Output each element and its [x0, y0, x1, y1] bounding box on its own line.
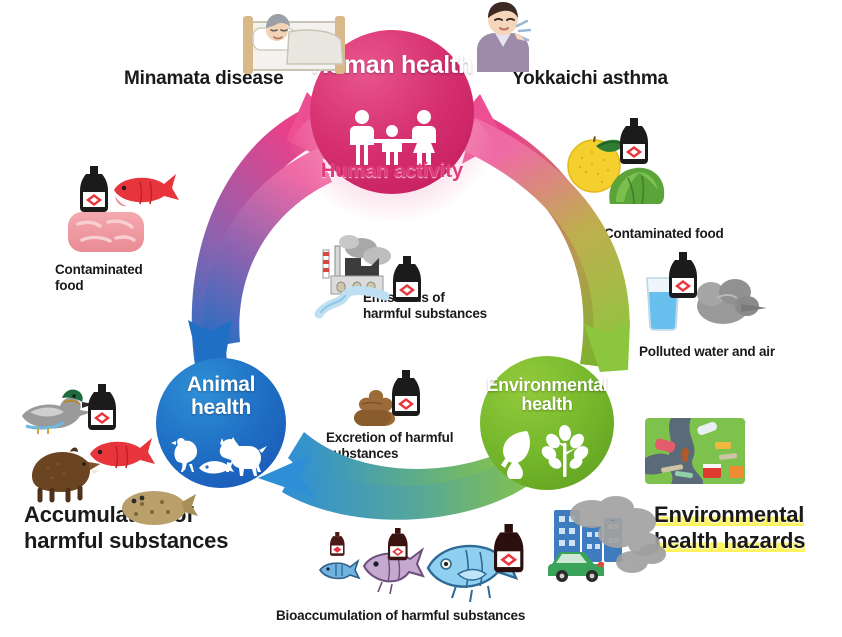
factory-emissions-icon: [319, 235, 421, 314]
diagram-canvas: Human health: [0, 0, 842, 637]
contaminated-meat-fish-icon: [68, 166, 179, 252]
sick-person-in-bed-icon: [243, 14, 345, 74]
wildlife-accumulation-icon: [22, 384, 198, 525]
water-glass-smoke-icon: [647, 252, 767, 330]
bioaccumulation-fish-chain-icon: [320, 524, 523, 602]
city-smog-car-icon: [548, 496, 666, 582]
excrement-icon: [354, 370, 420, 426]
contaminated-fruit-vegetable-icon: [568, 118, 664, 204]
polluted-river-litter-icon: [645, 418, 746, 484]
coughing-person-icon: [477, 2, 530, 72]
